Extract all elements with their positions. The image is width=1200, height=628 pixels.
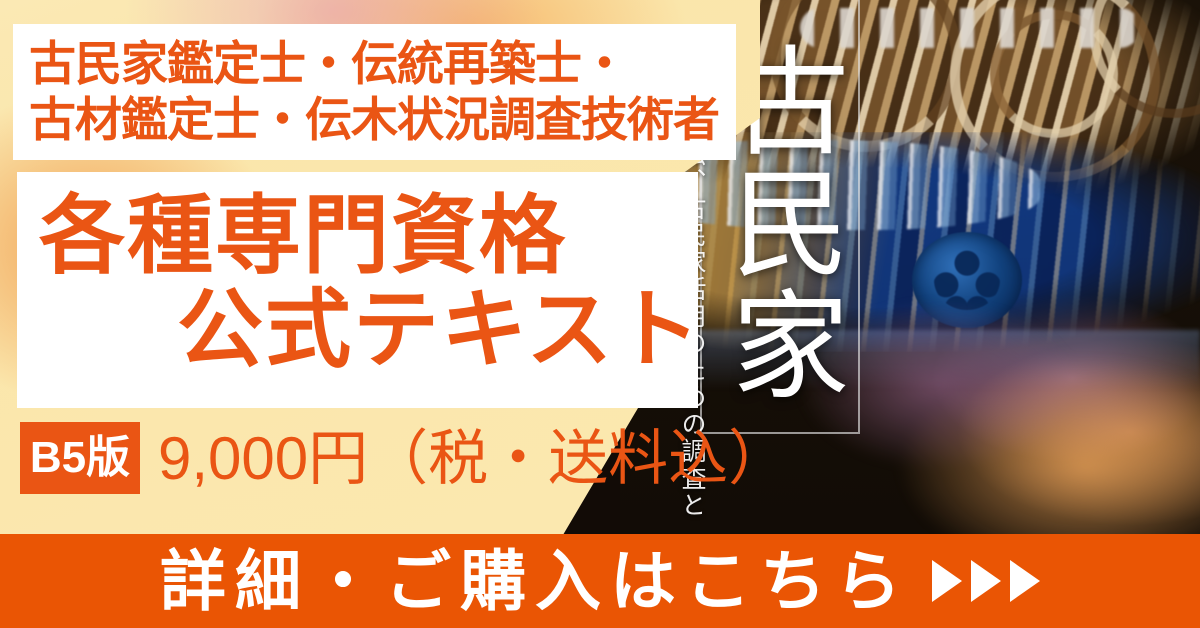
headline-card: 古民家鑑定士・伝統再築士・ 古材鑑定士・伝木状況調査技術者 [13, 24, 736, 160]
cta-arrow-group [932, 560, 1040, 602]
triangle-right-icon [932, 560, 962, 602]
warm-light-glow [800, 280, 1200, 540]
triangle-right-icon [971, 560, 1001, 602]
size-badge: B5版 [20, 422, 140, 494]
triangle-right-icon [1010, 560, 1040, 602]
price-label: 9,000円（税・送料込） [158, 425, 788, 493]
promo-banner: 古民家 伝統構法、古民家活用のための調査と再生の 古民家鑑定士・伝統再築士・ 古… [0, 0, 1200, 628]
cta-bar[interactable]: 詳細・ご購入はこちら [0, 534, 1200, 628]
cta-label: 詳細・ご購入はこちら [160, 544, 910, 618]
title-line-2: 公式テキスト [177, 282, 702, 378]
headline-line-2: 古材鑑定士・伝木状況調査技術者 [29, 92, 736, 148]
title-card: 各種専門資格 公式テキスト [17, 172, 698, 408]
headline-line-1: 古民家鑑定士・伝統再築士・ [29, 36, 736, 92]
title-line-1: 各種専門資格 [39, 188, 567, 284]
